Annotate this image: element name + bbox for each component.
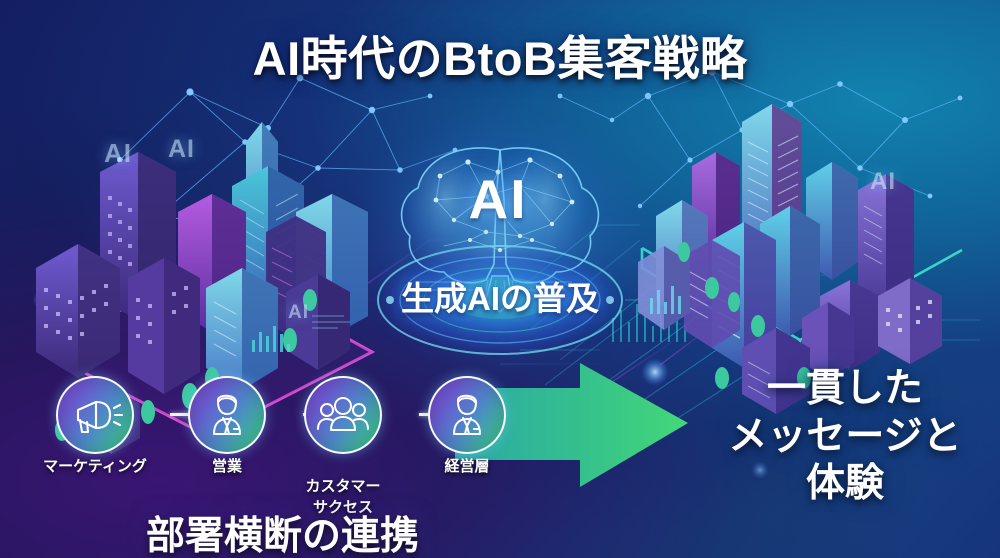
outcome-line-3: 体験 xyxy=(700,460,990,508)
people-group-icon xyxy=(304,376,382,454)
businessperson-icon xyxy=(188,376,266,454)
executive-icon xyxy=(428,376,506,454)
dept-label-text: 経営層 xyxy=(444,458,489,475)
dept-circle-customer-success[interactable] xyxy=(304,376,382,454)
outcome-line-2: メッセージと xyxy=(700,413,990,461)
cross-department-heading: 部署横断の連携 xyxy=(110,505,455,558)
infographic-canvas: AI AI AI xyxy=(0,0,1000,558)
outcome-text: 一貫した メッセージと 体験 xyxy=(700,365,990,508)
outcome-line-1: 一貫した xyxy=(700,365,990,413)
megaphone-icon xyxy=(56,376,134,454)
dept-label-text: 営業 xyxy=(212,458,242,475)
dept-label-executives: 経営層 xyxy=(387,457,547,477)
dept-label-text: マーケティング xyxy=(43,458,147,475)
dept-circle-executives[interactable] xyxy=(428,376,506,454)
dept-circle-sales[interactable] xyxy=(188,376,266,454)
dept-circle-marketing[interactable] xyxy=(56,376,134,454)
